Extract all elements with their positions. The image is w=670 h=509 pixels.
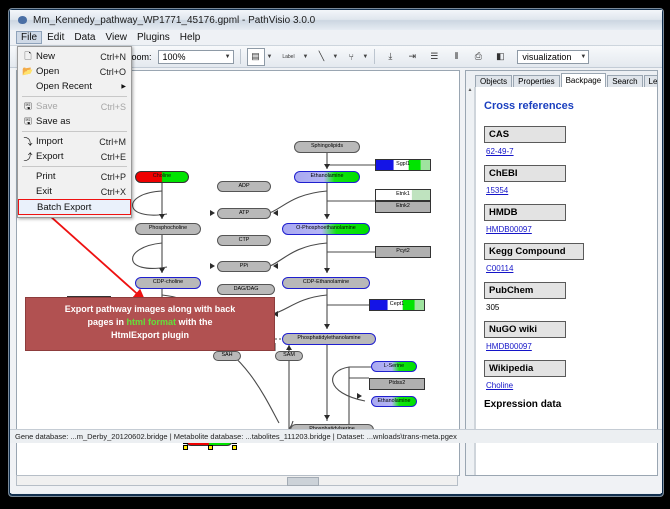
metabolite-node-cdp-ethanolamine[interactable]: CDP-Ethanolamine — [282, 277, 370, 289]
node-label: CTP — [239, 238, 250, 243]
xref-header: Wikipedia — [484, 360, 566, 377]
visualization-value: visualization — [522, 52, 580, 62]
callout-line-2-post: with the — [176, 317, 213, 327]
save-disk-icon: 🖫 — [20, 99, 36, 115]
metabolite-node-ppi[interactable]: PPi — [217, 261, 271, 272]
chevron-down-icon[interactable]: ▼ — [267, 54, 273, 60]
menu-item-new[interactable]: 🗋NewCtrl+N — [18, 49, 131, 64]
callout-line-1: Export pathway images along with back — [32, 303, 268, 316]
menu-separator — [22, 166, 127, 167]
align-top-button[interactable]: ⤓ — [381, 48, 399, 66]
callout-line-3: HtmlExport plugin — [32, 329, 268, 342]
gene-node-pcyt2[interactable]: Pcyt2 — [375, 246, 431, 258]
scroll-up-icon[interactable]: ▲ — [466, 87, 474, 93]
menu-item-accelerator: Ctrl+E — [101, 152, 131, 162]
metabolite-node-o-phosphoethanolamine[interactable]: O-Phosphoethanolamine — [282, 223, 370, 235]
menu-file[interactable]: File — [16, 31, 42, 44]
metabolite-node-phosphatidylethanolamine[interactable]: Phosphatidylethanolamine — [282, 333, 376, 345]
sidebar-toggle-button[interactable]: ◧ — [491, 48, 509, 66]
menu-item-accelerator: Ctrl+N — [100, 52, 131, 62]
menu-item-export[interactable]: ⤴ExportCtrl+E — [18, 149, 131, 164]
menu-item-accelerator: Ctrl+S — [101, 102, 131, 112]
xref-group-chebi: ChEBI 15354 — [476, 165, 658, 195]
callout-line-2-pre: pages in — [87, 317, 126, 327]
resize-handle[interactable] — [232, 445, 237, 450]
xref-group-hmdb: HMDB HMDB00097 — [476, 204, 658, 234]
menu-item-save: 🖫SaveCtrl+S — [18, 99, 131, 114]
node-label: Choline — [153, 174, 171, 179]
folder-open-icon: 📂 — [20, 66, 36, 77]
chevron-down-icon: ▼ — [225, 54, 231, 60]
menu-item-label: Import — [36, 136, 99, 147]
xref-header: CAS — [484, 126, 566, 143]
visualization-combo[interactable]: visualization ▼ — [517, 50, 589, 64]
xref-value-link[interactable]: Choline — [486, 381, 658, 390]
node-label: Pcyt2 — [396, 249, 409, 254]
metabolite-node-atp[interactable]: ATP — [217, 208, 271, 219]
export-icon: ⤴ — [20, 150, 36, 163]
menu-item-accelerator: Ctrl+M — [99, 137, 131, 147]
distribute-vertical-icon: ☰ — [430, 51, 438, 62]
side-panel-tabs: Objects Properties Backpage Search Legen… — [466, 71, 657, 87]
node-label: Phosphocholine — [149, 226, 187, 231]
arrowhead — [210, 210, 215, 216]
node-label: PPi — [240, 264, 248, 269]
datanode-tool-button[interactable]: ▤ — [247, 48, 265, 66]
xref-header: Kegg Compound — [484, 243, 584, 260]
toolbar-divider — [240, 49, 241, 64]
xref-value-link[interactable]: 15354 — [486, 186, 658, 195]
pathvisio-window: Mm_Kennedy_pathway_WP1771_45176.gpml - P… — [8, 8, 664, 497]
xref-header: NuGO wiki — [484, 321, 566, 338]
menu-data[interactable]: Data — [69, 31, 100, 44]
xref-group-cas: CAS 62-49-7 — [476, 126, 658, 156]
tab-legend[interactable]: Legend — [644, 75, 658, 87]
node-label: DAG/DAG — [234, 287, 259, 292]
tab-search[interactable]: Search — [607, 75, 642, 87]
align-left-icon: ⇥ — [409, 51, 417, 62]
menu-item-label: Exit — [36, 186, 101, 197]
metabolite-node-sphingolipids[interactable]: Sphingolipids — [294, 141, 360, 153]
callout-html-format: html format — [127, 317, 177, 327]
chevron-down-icon[interactable]: ▼ — [302, 54, 308, 60]
status-text: Gene database: ...m_Derby_20120602.bridg… — [15, 432, 457, 441]
menu-item-batch-export[interactable]: Batch Export — [18, 199, 131, 215]
metabolite-node-sam[interactable]: SAM — [275, 351, 303, 361]
node-label: O-Phosphoethanolamine — [296, 226, 356, 231]
node-label: Sphingolipids — [311, 144, 343, 149]
zoom-value: 100% — [163, 52, 225, 62]
metabolite-node-phosphocholine[interactable]: Phosphocholine — [135, 223, 201, 235]
label-icon: Label — [282, 54, 294, 60]
metabolite-node-cdp-choline[interactable]: CDP-choline — [135, 277, 201, 289]
node-label: SAM — [283, 353, 295, 358]
arrowhead — [210, 263, 215, 269]
menu-item-save-as[interactable]: 🖫Save as — [18, 114, 131, 129]
interaction-icon: ⑂ — [349, 52, 354, 62]
line-icon: ╲ — [319, 51, 324, 62]
window-title: Mm_Kennedy_pathway_WP1771_45176.gpml - P… — [33, 15, 315, 26]
menu-view[interactable]: View — [100, 31, 132, 44]
side-panel-scrollbar[interactable]: ▲ — [466, 87, 475, 475]
sidebar-toggle-icon: ◧ — [496, 51, 505, 62]
new-document-icon: 🗋 — [20, 49, 36, 65]
node-label: Etnk1 — [396, 192, 410, 197]
datanode-icon: ▤ — [251, 51, 260, 62]
gene-node-ptdss2[interactable]: Ptdss2 — [369, 378, 425, 390]
menu-item-import[interactable]: ⤵ImportCtrl+M — [18, 134, 131, 149]
status-bar: Gene database: ...m_Derby_20120602.bridg… — [10, 429, 662, 443]
node-label: CDP-choline — [153, 280, 183, 285]
chevron-down-icon[interactable]: ▼ — [332, 54, 338, 60]
xref-group-nugo: NuGO wiki HMDB00097 — [476, 321, 658, 351]
menu-separator — [22, 96, 127, 97]
chevron-down-icon[interactable]: ▼ — [362, 54, 368, 60]
menu-plugins[interactable]: Plugins — [132, 31, 175, 44]
callout-line-2: pages in html format with the — [32, 316, 268, 329]
side-panel: Objects Properties Backpage Search Legen… — [465, 70, 658, 476]
save-as-icon: 🖫 — [20, 114, 36, 130]
resize-handle[interactable] — [183, 445, 188, 450]
arrowhead — [357, 393, 362, 399]
node-label: SAH — [221, 353, 232, 358]
zoom-combo[interactable]: 100% ▼ — [158, 50, 234, 64]
node-label: ADP — [238, 184, 249, 189]
tab-properties[interactable]: Properties — [513, 75, 559, 87]
hscroll-thumb[interactable] — [287, 477, 319, 486]
tab-objects[interactable]: Objects — [475, 75, 512, 87]
menu-item-open-recent[interactable]: Open Recent▶ — [18, 79, 131, 94]
node-label: Etnk2 — [396, 204, 410, 209]
node-label: CDP-Ethanolamine — [303, 280, 349, 285]
tab-backpage[interactable]: Backpage — [561, 73, 607, 87]
menu-item-label: Save as — [36, 116, 126, 127]
node-label: Ethanolamine — [378, 399, 411, 404]
metabolite-node-adp[interactable]: ADP — [217, 181, 271, 192]
metabolite-node-sah[interactable]: SAH — [213, 351, 241, 361]
gene-node-cept1[interactable]: Cept1 — [369, 299, 425, 311]
resize-handle[interactable] — [208, 445, 213, 450]
menu-item-open[interactable]: 📂OpenCtrl+O — [18, 64, 131, 79]
menu-item-accelerator: Ctrl+P — [101, 172, 131, 182]
node-label: Phosphatidylethanolamine — [297, 336, 360, 341]
menu-item-label: Batch Export — [37, 202, 125, 213]
menu-item-print[interactable]: PrintCtrl+P — [18, 169, 131, 184]
arrowhead — [324, 268, 330, 273]
title-bar: Mm_Kennedy_pathway_WP1771_45176.gpml - P… — [10, 10, 662, 31]
distribute-horizontal-button[interactable]: ⦀ — [447, 48, 465, 66]
toolbar-divider — [374, 49, 375, 64]
menu-item-label: Open — [36, 66, 100, 77]
menu-item-label: Export — [36, 151, 101, 162]
distribute-horizontal-icon: ⦀ — [454, 51, 458, 62]
menu-item-label: Save — [36, 101, 101, 112]
arrowhead — [324, 415, 330, 420]
expression-data-heading: Expression data — [484, 399, 658, 410]
menu-item-accelerator: Ctrl+O — [100, 67, 131, 77]
file-menu-dropdown[interactable]: 🗋NewCtrl+N📂OpenCtrl+OOpen Recent▶🖫SaveCt… — [17, 46, 132, 218]
xref-group-pubchem: PubChem 305 — [476, 282, 658, 312]
node-label: ATP — [239, 211, 249, 216]
xref-value-link[interactable]: HMDB00097 — [486, 342, 658, 351]
xref-value-text: 305 — [486, 303, 658, 312]
arrowhead — [159, 268, 165, 273]
xref-value-link[interactable]: 62-49-7 — [486, 147, 658, 156]
metabolite-node-dag-dag[interactable]: DAG/DAG — [217, 284, 275, 295]
menu-help[interactable]: Help — [175, 31, 206, 44]
distribute-vertical-button[interactable]: ☰ — [425, 48, 443, 66]
align-left-button[interactable]: ⇥ — [403, 48, 421, 66]
canvas-hscrollbar[interactable] — [16, 475, 458, 486]
print-icon: ⎙ — [475, 51, 482, 62]
menu-separator — [22, 131, 127, 132]
menu-edit[interactable]: Edit — [42, 31, 69, 44]
metabolite-node-l-serine[interactable]: L-Serine — [371, 361, 417, 372]
arrowhead — [273, 263, 278, 269]
xref-header: HMDB — [484, 204, 566, 221]
xref-value-link[interactable]: HMDB00097 — [486, 225, 658, 234]
gene-node-etnk1[interactable]: Etnk1 — [375, 189, 431, 201]
chevron-down-icon: ▼ — [580, 54, 586, 60]
xref-header: ChEBI — [484, 165, 566, 182]
backpage-content: Cross references CAS 62-49-7 ChEBI 15354… — [475, 87, 658, 475]
node-label: Sgpl1 — [396, 162, 410, 167]
menu-bar: File Edit Data View Plugins Help — [10, 30, 662, 46]
xref-group-kegg: Kegg Compound C00114 — [476, 243, 658, 273]
menu-item-label: Open Recent — [36, 81, 121, 92]
menu-item-label: New — [36, 51, 100, 62]
submenu-arrow-icon: ▶ — [121, 83, 131, 90]
label-tool-button[interactable]: Label — [276, 48, 300, 66]
xref-header: PubChem — [484, 282, 566, 299]
metabolite-node-ethanolamine[interactable]: Ethanolamine — [371, 396, 417, 407]
xref-value-link[interactable]: C00114 — [486, 264, 658, 273]
align-top-icon: ⤓ — [388, 51, 392, 62]
print-button[interactable]: ⎙ — [469, 48, 487, 66]
gene-node-sgpl1[interactable]: Sgpl1 — [375, 159, 431, 171]
cross-references-title: Cross references — [484, 100, 658, 112]
annotation-callout: Export pathway images along with back pa… — [25, 297, 275, 351]
arrowhead — [324, 164, 330, 169]
arrowhead — [159, 214, 165, 219]
node-label: L-Serine — [384, 364, 404, 369]
line-tool-button[interactable]: ╲ — [312, 48, 330, 66]
gene-node-etnk2[interactable]: Etnk2 — [375, 201, 431, 213]
menu-item-accelerator: Ctrl+X — [101, 187, 131, 197]
node-label: Cept1 — [390, 302, 404, 307]
arrowhead — [286, 345, 292, 350]
menu-item-exit[interactable]: ExitCtrl+X — [18, 184, 131, 199]
arrowhead — [273, 210, 278, 216]
menu-item-label: Print — [36, 171, 101, 182]
xref-group-wikipedia: Wikipedia Choline — [476, 360, 658, 390]
interaction-tool-button[interactable]: ⑂ — [342, 48, 360, 66]
metabolite-node-ctp[interactable]: CTP — [217, 235, 271, 246]
node-label: Ptdss2 — [389, 381, 405, 386]
pathvisio-icon — [17, 14, 29, 26]
arrowhead — [324, 324, 330, 329]
import-icon: ⤵ — [20, 135, 36, 148]
metabolite-node-choline[interactable]: Choline — [135, 171, 189, 183]
arrowhead — [324, 214, 330, 219]
metabolite-node-ethanolamine[interactable]: Ethanolamine — [294, 171, 360, 183]
node-label: Ethanolamine — [311, 174, 344, 179]
